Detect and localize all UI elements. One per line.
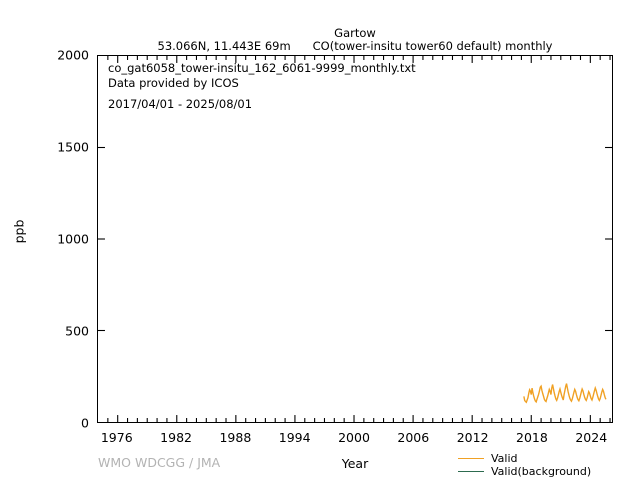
legend-item-0[interactable]: Valid [458, 452, 591, 465]
legend-label: Valid(background) [491, 465, 591, 478]
legend-swatch-icon [458, 471, 484, 472]
x-tick-1982: 1982 [160, 430, 192, 445]
x-tick-1994: 1994 [279, 430, 311, 445]
chart-subtitle: 53.066N, 11.443E 69mCO(tower-insitu towe… [97, 40, 613, 53]
annotation-filename: co_gat6058_tower-insitu_162_6061-9999_mo… [108, 61, 416, 75]
annotation-date-range: 2017/04/01 - 2025/08/01 [108, 97, 252, 111]
x-tick-2012: 2012 [457, 430, 489, 445]
y-axis-title: ppb [12, 202, 27, 262]
y-tick-2000: 2000 [3, 48, 89, 63]
x-tick-2024: 2024 [575, 430, 607, 445]
legend-item-1[interactable]: Valid(background) [458, 465, 591, 478]
x-tick-1976: 1976 [101, 430, 133, 445]
y-tick-500: 500 [3, 324, 89, 339]
station-coordinates: 53.066N, 11.443E 69m [158, 39, 291, 53]
annotation-provider: Data provided by ICOS [108, 76, 239, 90]
watermark-credit: WMO WDCGG / JMA [98, 455, 220, 470]
y-tick-0: 0 [3, 416, 89, 431]
parameter-label: CO(tower-insitu tower60 default) monthly [313, 39, 553, 53]
legend-label: Valid [491, 452, 518, 465]
x-tick-1988: 1988 [219, 430, 251, 445]
x-tick-2000: 2000 [338, 430, 370, 445]
y-tick-1500: 1500 [3, 140, 89, 155]
chart-legend: ValidValid(background) [458, 452, 591, 478]
x-tick-2006: 2006 [397, 430, 429, 445]
legend-swatch-icon [458, 458, 484, 459]
chart-page: Gartow 53.066N, 11.443E 69mCO(tower-insi… [0, 0, 640, 480]
series-line-valid [524, 384, 606, 403]
x-tick-2018: 2018 [516, 430, 548, 445]
